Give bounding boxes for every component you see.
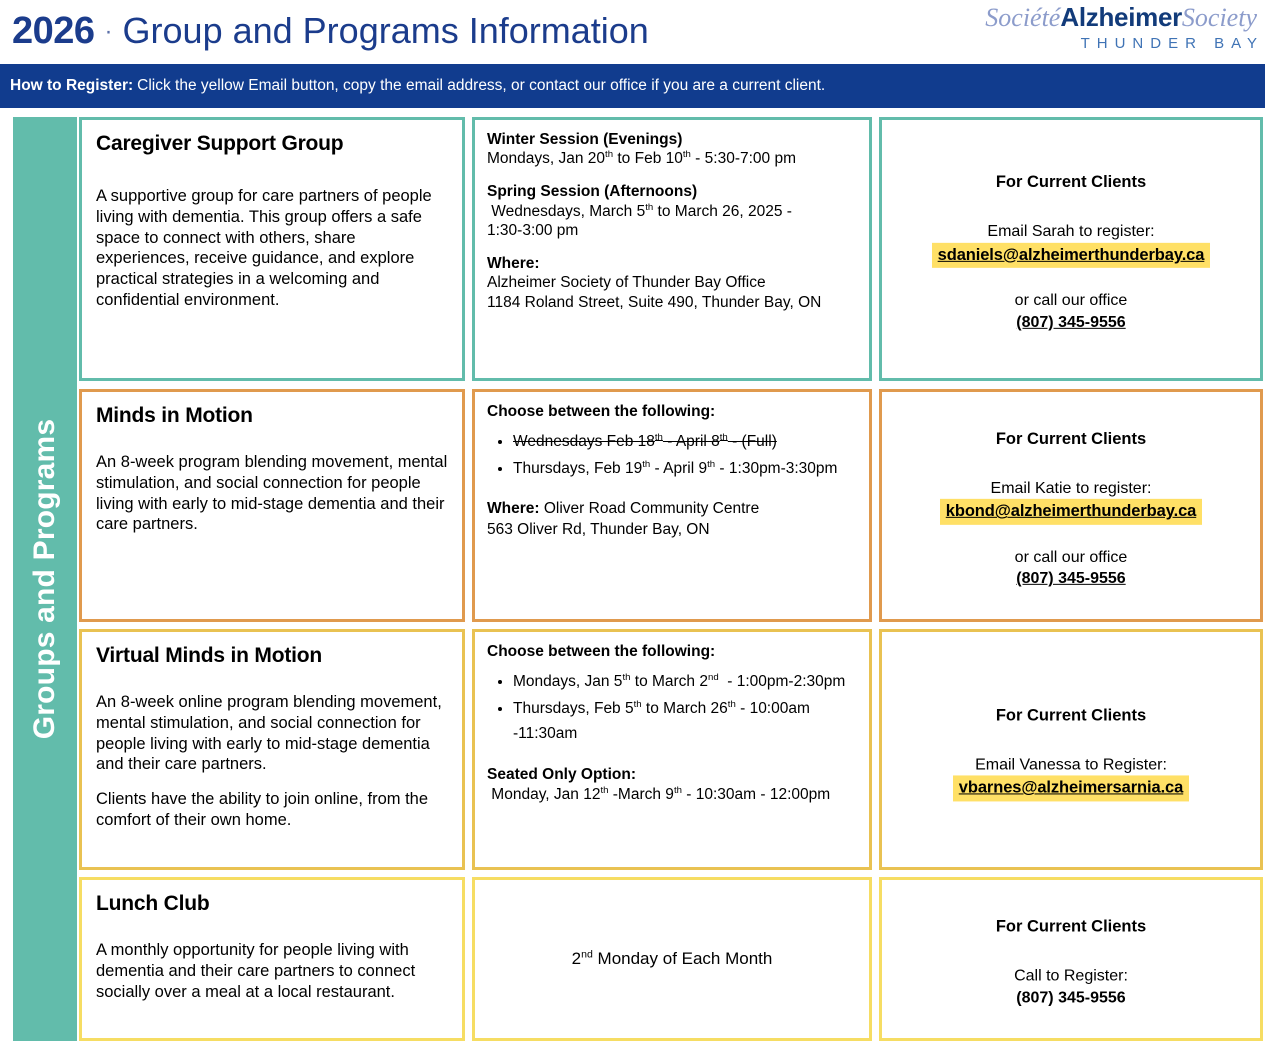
program-description-cell: Lunch Club A monthly opportunity for peo… — [79, 877, 465, 1041]
register-info: For Current Clients Email Katie to regis… — [882, 421, 1260, 589]
register-heading: For Current Clients — [882, 427, 1260, 449]
phone-number[interactable]: (807) 345-9556 — [882, 987, 1260, 1009]
logo-alzheimer-text: Alzheimer — [1060, 2, 1182, 32]
program-row-minds-in-motion: Minds in Motion An 8-week program blendi… — [79, 389, 1263, 622]
email-button-wrap: kbond@alzheimerthunderbay.ca — [882, 499, 1260, 524]
alzheimer-society-logo: SociétéAlzheimerSociety THUNDER BAY — [985, 4, 1257, 51]
email-button[interactable]: kbond@alzheimerthunderbay.ca — [940, 499, 1202, 524]
sidebar-label: Groups and Programs — [28, 419, 62, 740]
spacer — [882, 938, 1260, 966]
program-description-p1: An 8-week online program blending moveme… — [96, 692, 450, 775]
page-title: 2026 · Group and Programs Information — [12, 10, 649, 53]
spring-session-heading: Spring Session (Afternoons) — [487, 182, 857, 201]
email-button-wrap: vbarnes@alzheimersarnia.ca — [882, 776, 1260, 801]
choose-heading: Choose between the following: — [487, 402, 857, 421]
where-block: Where: Oliver Road Community Centre 563 … — [487, 499, 857, 539]
program-title: Caregiver Support Group — [96, 132, 450, 156]
register-info: For Current Clients Call to Register: (8… — [882, 909, 1260, 1008]
program-description-cell: Caregiver Support Group A supportive gro… — [79, 117, 465, 381]
spring-session-line-1: Wednesdays, March 5th to March 26, 2025 … — [487, 202, 857, 221]
spacer — [882, 726, 1260, 754]
or-call-text: or call our office — [882, 546, 1260, 568]
spacer — [882, 268, 1260, 290]
or-call-text: or call our office — [882, 290, 1260, 312]
choose-heading: Choose between the following: — [487, 642, 857, 661]
phone-number[interactable]: (807) 345-9556 — [882, 568, 1260, 590]
where-block: Where: Alzheimer Society of Thunder Bay … — [487, 254, 857, 312]
schedule-details: Choose between the following: Wednesdays… — [487, 402, 857, 540]
program-schedule-cell: 2nd Monday of Each Month — [472, 877, 872, 1041]
phone-number[interactable]: (807) 345-9556 — [882, 312, 1260, 334]
program-register-cell: For Current Clients Email Katie to regis… — [879, 389, 1263, 622]
program-register-cell: For Current Clients Call to Register: (8… — [879, 877, 1263, 1041]
seated-only-line: Monday, Jan 12th -March 9th - 10:30am - … — [487, 785, 857, 805]
spacer — [882, 450, 1260, 478]
schedule-option: Thursdays, Feb 19th - April 9th - 1:30pm… — [513, 456, 857, 481]
logo-wordmark: SociétéAlzheimerSociety — [985, 4, 1257, 31]
program-title: Virtual Minds in Motion — [96, 644, 450, 668]
program-schedule-cell: Choose between the following: Mondays, J… — [472, 629, 872, 870]
email-button[interactable]: sdaniels@alzheimerthunderbay.ca — [932, 243, 1211, 268]
program-description: An 8-week online program blending moveme… — [96, 692, 450, 831]
call-prompt: Call to Register: — [882, 966, 1260, 988]
banner-text: Click the yellow Email button, copy the … — [137, 77, 825, 95]
where-line-1: Where: Oliver Road Community Centre — [487, 499, 857, 519]
page-header: 2026 · Group and Programs Information So… — [0, 0, 1265, 62]
seated-only-block: Seated Only Option: Monday, Jan 12th -Ma… — [487, 765, 857, 805]
logo-society-text: Society — [1182, 3, 1257, 32]
schedule-options-list: Wednesdays Feb 18th - April 8th - (Full)… — [487, 429, 857, 481]
banner-label: How to Register: — [10, 77, 133, 95]
program-description-cell: Minds in Motion An 8-week program blendi… — [79, 389, 465, 622]
program-description-p2: Clients have the ability to join online,… — [96, 789, 450, 831]
schedule-options-list: Mondays, Jan 5th to March 2nd - 1:00pm-2… — [487, 669, 857, 746]
schedule-option: Mondays, Jan 5th to March 2nd - 1:00pm-2… — [513, 669, 857, 694]
register-info: For Current Clients Email Sarah to regis… — [882, 165, 1260, 333]
how-to-register-banner: How to Register:Click the yellow Email b… — [0, 64, 1265, 108]
schedule-details: Choose between the following: Mondays, J… — [487, 642, 857, 805]
schedule-option: Thursdays, Feb 5th to March 26th - 10:00… — [513, 696, 857, 746]
schedule-option-struck: Wednesdays Feb 18th - April 8th - (Full) — [513, 429, 857, 454]
spacer — [882, 524, 1260, 546]
title-separator-dot: · — [105, 18, 113, 46]
where-venue: Oliver Road Community Centre — [544, 500, 759, 517]
program-register-cell: For Current Clients Email Vanessa to Reg… — [879, 629, 1263, 870]
program-row-lunch-club: Lunch Club A monthly opportunity for peo… — [79, 877, 1263, 1041]
email-prompt: Email Sarah to register: — [882, 221, 1260, 243]
email-button-wrap: sdaniels@alzheimerthunderbay.ca — [882, 243, 1260, 268]
program-title: Lunch Club — [96, 892, 450, 916]
program-schedule-cell: Choose between the following: Wednesdays… — [472, 389, 872, 622]
where-line-2: 563 Oliver Rd, Thunder Bay, ON — [487, 520, 857, 540]
program-description: An 8-week program blending movement, men… — [96, 452, 450, 535]
program-row-caregiver-support-group: Caregiver Support Group A supportive gro… — [79, 117, 1263, 381]
program-title: Minds in Motion — [96, 404, 450, 428]
program-schedule-cell: Winter Session (Evenings) Mondays, Jan 2… — [472, 117, 872, 381]
logo-societe-text: Société — [985, 3, 1060, 32]
logo-chapter-text: THUNDER BAY — [985, 36, 1264, 51]
where-line-1: Alzheimer Society of Thunder Bay Office — [487, 273, 857, 292]
sidebar-groups-and-programs: Groups and Programs — [13, 117, 77, 1041]
where-line-2: 1184 Roland Street, Suite 490, Thunder B… — [487, 293, 857, 312]
register-heading: For Current Clients — [882, 171, 1260, 193]
register-heading: For Current Clients — [882, 915, 1260, 937]
title-year: 2026 — [12, 10, 95, 53]
schedule-single-line: 2nd Monday of Each Month — [475, 949, 869, 969]
seated-only-heading: Seated Only Option: — [487, 765, 857, 785]
title-text: Group and Programs Information — [123, 10, 649, 52]
email-button[interactable]: vbarnes@alzheimersarnia.ca — [953, 776, 1189, 801]
winter-session-line: Mondays, Jan 20th to Feb 10th - 5:30-7:0… — [487, 149, 857, 168]
program-description: A monthly opportunity for people living … — [96, 940, 450, 1002]
where-heading: Where: — [487, 500, 540, 517]
schedule-details: Winter Session (Evenings) Mondays, Jan 2… — [487, 130, 857, 312]
spring-session-line-2: 1:30-3:00 pm — [487, 221, 857, 240]
spring-session-block: Spring Session (Afternoons) Wednesdays, … — [487, 182, 857, 240]
winter-session-heading: Winter Session (Evenings) — [487, 130, 857, 149]
program-register-cell: For Current Clients Email Sarah to regis… — [879, 117, 1263, 381]
email-prompt: Email Vanessa to Register: — [882, 754, 1260, 776]
winter-session-block: Winter Session (Evenings) Mondays, Jan 2… — [487, 130, 857, 168]
register-heading: For Current Clients — [882, 704, 1260, 726]
register-info: For Current Clients Email Vanessa to Reg… — [882, 698, 1260, 801]
program-row-virtual-minds-in-motion: Virtual Minds in Motion An 8-week online… — [79, 629, 1263, 870]
where-heading: Where: — [487, 254, 857, 273]
program-description-cell: Virtual Minds in Motion An 8-week online… — [79, 629, 465, 870]
spacer — [882, 193, 1260, 221]
email-prompt: Email Katie to register: — [882, 478, 1260, 500]
programs-grid: Caregiver Support Group A supportive gro… — [79, 117, 1263, 1041]
program-description: A supportive group for care partners of … — [96, 186, 450, 311]
